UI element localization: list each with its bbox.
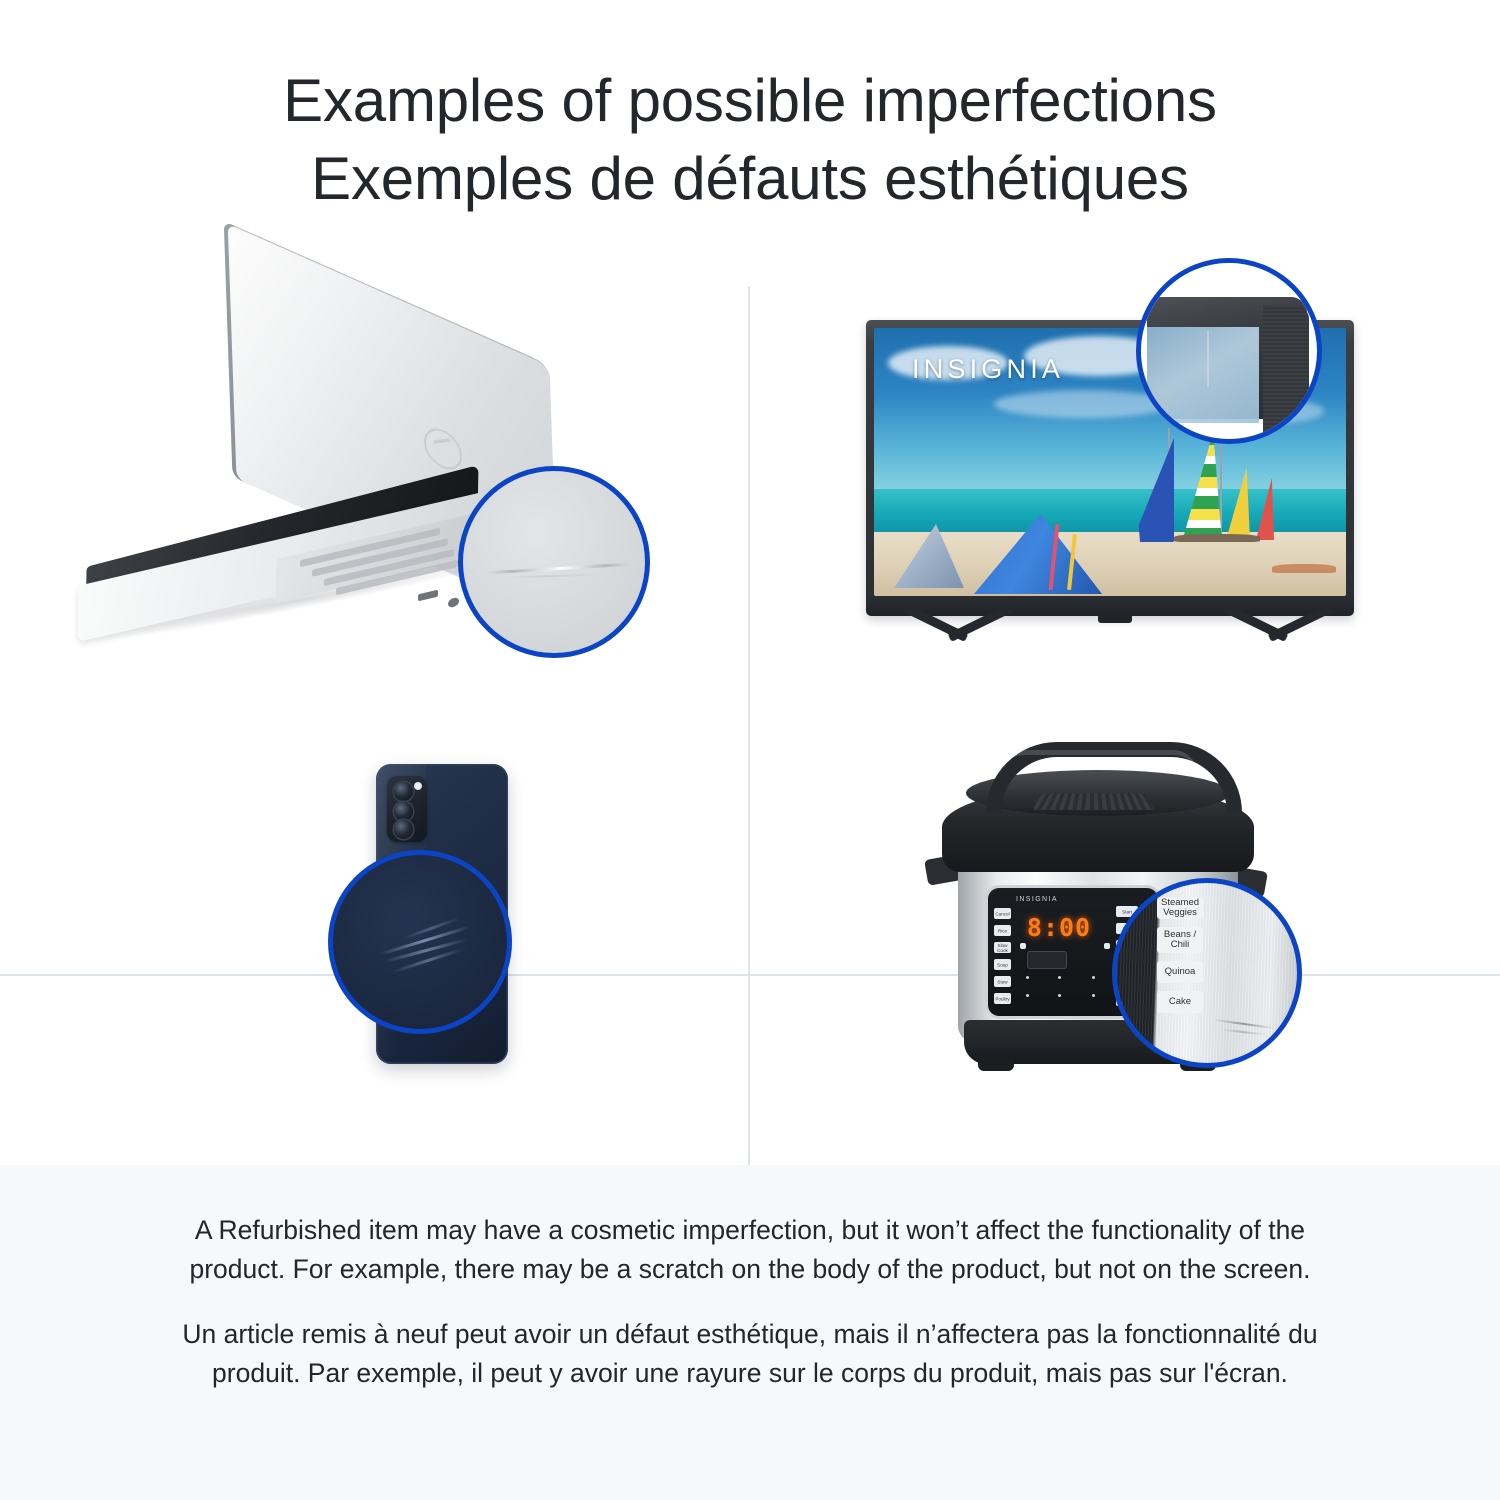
cooker-indicator-dot: [1092, 976, 1095, 979]
page-title-en: Examples of possible imperfections: [283, 62, 1217, 140]
cooker-manual-display[interactable]: [1028, 952, 1066, 968]
magnifier-tv-bezel-scuff: [1136, 258, 1322, 444]
tv-bezel-side: [1263, 305, 1309, 444]
button-label: Slow Cook: [994, 942, 1011, 952]
laptop-illustration: [0, 248, 748, 726]
tv-illustration: INSIGNIA: [750, 248, 1500, 726]
camera-flash-icon: [414, 782, 422, 790]
example-cell-laptop: [0, 248, 748, 726]
examples-grid: INSIGNIA: [0, 248, 1500, 1165]
magnifier-cooker-scratch: Steamed Veggies Beans / Chili Quinoa Cak…: [1112, 878, 1302, 1068]
button-label: Beans / Chili: [1157, 930, 1203, 950]
tv-ir-receiver: [1098, 614, 1132, 623]
page-header: Examples of possible imperfections Exemp…: [0, 0, 1500, 248]
button-label: Steamed Veggies: [1157, 898, 1203, 918]
magnified-button-quinoa[interactable]: Quinoa: [1157, 961, 1203, 983]
button-label: Quinoa: [1165, 967, 1196, 977]
cooker-button-slow-cook[interactable]: Slow Cook: [994, 942, 1011, 953]
cooker-brand-logo: INSIGNIA: [1016, 896, 1058, 903]
button-label: Cake: [1169, 997, 1191, 1007]
magnified-button-steamed-veggies[interactable]: Steamed Veggies: [1157, 897, 1203, 919]
page-title-fr: Exemples de défauts esthétiques: [311, 140, 1189, 218]
camera-lens-icon: [394, 802, 413, 821]
laptop-usb-port: [418, 590, 438, 602]
cooker-foot: [978, 1058, 1014, 1071]
refurbished-imperfections-infographic: Examples of possible imperfections Exemp…: [0, 0, 1500, 1500]
footer-description: A Refurbished item may have a cosmetic i…: [0, 1165, 1500, 1500]
cooker-button-poultry[interactable]: Poultry: [994, 993, 1011, 1004]
cooker-lid-handle-gloss: [1000, 750, 1198, 775]
cooker-led-display: 8:00: [1022, 914, 1096, 940]
brushed-steel-texture: [1117, 883, 1297, 1063]
cooker-button-soup[interactable]: Soup: [994, 959, 1011, 970]
example-cell-phone: [0, 728, 748, 1165]
magnifier-phone-scratches: [328, 850, 512, 1034]
magnifier-laptop-scratch: [458, 466, 650, 658]
magnified-button-beans-chili[interactable]: Beans / Chili: [1157, 927, 1203, 953]
button-label: Cancel: [994, 911, 1011, 916]
cooker-button-minus[interactable]: [1020, 943, 1026, 949]
footer-paragraph-en: A Refurbished item may have a cosmetic i…: [150, 1211, 1350, 1289]
tv-bezel-screen-edge: [1147, 327, 1259, 423]
sailboat-hull: [1174, 534, 1260, 542]
scuff-mark: [1207, 331, 1209, 387]
button-label: Rice: [994, 928, 1011, 933]
scratch-mark: [487, 563, 631, 575]
cooker-button-stew[interactable]: Stew: [994, 976, 1011, 987]
cooker-button-plus[interactable]: [1104, 943, 1110, 949]
cooker-indicator-dot: [1026, 976, 1029, 979]
magnified-button-cake[interactable]: Cake: [1157, 991, 1203, 1013]
pressure-cooker-illustration: INSIGNIA 8:00 Cancel Rice Slow Cook Soup…: [750, 728, 1500, 1165]
cooker-indicator-dot: [1092, 994, 1095, 997]
phone-illustration: [0, 728, 748, 1165]
cooker-indicator-dot: [1058, 994, 1061, 997]
button-label: Soup: [994, 962, 1011, 967]
example-cell-tv: INSIGNIA: [750, 248, 1500, 726]
laptop-audio-port: [448, 597, 459, 609]
button-label: Poultry: [994, 996, 1011, 1001]
tv-scene-sea: [874, 489, 1346, 535]
example-cell-pressure-cooker: INSIGNIA 8:00 Cancel Rice Slow Cook Soup…: [750, 728, 1500, 1165]
beach-canoe: [1272, 564, 1336, 573]
scratch-mark: [503, 573, 607, 579]
footer-paragraph-fr: Un article remis à neuf peut avoir un dé…: [150, 1315, 1350, 1393]
cooker-button-cancel[interactable]: Cancel: [994, 908, 1011, 919]
camera-lens-icon: [394, 782, 413, 801]
tv-bezel-corner: [1147, 297, 1307, 419]
tv-brand-logo: INSIGNIA: [912, 354, 1064, 385]
cooker-indicator-dot: [1026, 994, 1029, 997]
cooker-button-rice[interactable]: Rice: [994, 925, 1011, 936]
camera-lens-icon: [394, 820, 413, 839]
camera-module-icon: [387, 776, 427, 842]
button-label: Stew: [994, 979, 1011, 984]
cooker-indicator-dot: [1058, 976, 1061, 979]
